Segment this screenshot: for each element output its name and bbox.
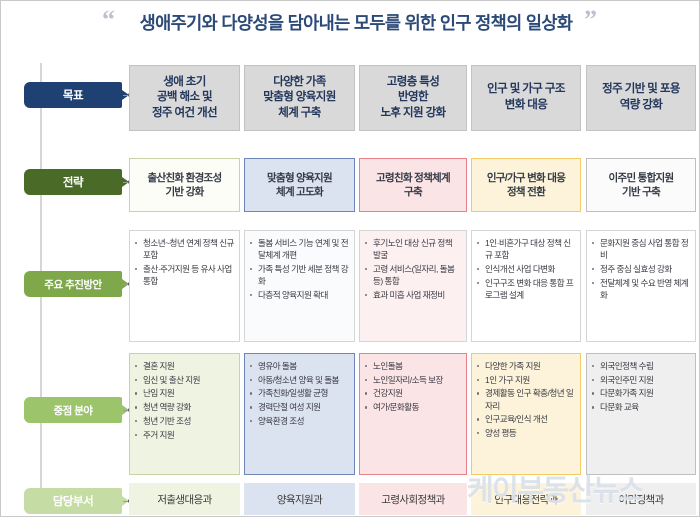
dept-box-1: 저출생대응과 [129,483,240,515]
list-item: 외국인주민 지원 [591,374,690,386]
strategy-box-2: 맞춤형 양육지원체계 고도화 [244,158,355,212]
list-item: 경력단절 여성 지원 [249,401,349,413]
list-item: 주거 지원 [134,429,234,441]
focus-box-5: 외국인정책 수립외국인주민 지원다문화가족 지원다문화 교육 [586,353,696,475]
list-item: 임신 및 출산 지원 [134,374,234,386]
plan-box-5: 문화지원 중심 사업 통합 정비정주 중심 실효성 강화전달체계 및 수요 반영… [586,230,696,342]
list-item: 경제활동 인구 확충/청년 일자리 [476,387,575,411]
list-item: 후기노인 대상 신규 정책 발굴 [364,237,461,261]
page-title: 생애주기와 다양성을 담아내는 모두를 위한 인구 정책의 일상화 [111,10,601,35]
list-item: 청소년~청년 연계 정책 신규 포함 [134,237,234,261]
plan-list-1: 청소년~청년 연계 정책 신규 포함출산·주거지원 등 유사 사업 통합 [134,237,234,287]
plan-list-2: 돌봄 서비스 기능 연계 및 전달체계 개편가족 특성 기반 세분 정책 강화다… [249,237,349,301]
list-item: 청년 기반 조성 [134,415,234,427]
list-item: 다양한 가족 지원 [476,360,575,372]
focus-list-2: 영유아 돌봄아동/청소년 양육 및 돌봄가족친화/일생활 균형경력단절 여성 지… [249,360,349,427]
title-band: “ 생애주기와 다양성을 담아내는 모두를 위한 인구 정책의 일상화 ” [1,1,700,47]
list-item: 여가/문화활동 [364,401,461,413]
list-item: 돌봄 서비스 기능 연계 및 전달체계 개편 [249,237,349,261]
list-item: 인구교육/인식 개선 [476,413,575,425]
list-item: 외국인정책 수립 [591,360,690,372]
list-item: 양육환경 조성 [249,415,349,427]
list-item: 1인 가구 지원 [476,374,575,386]
list-item: 아동/청소년 양육 및 돌봄 [249,374,349,386]
focus-box-4: 다양한 가족 지원1인 가구 지원경제활동 인구 확충/청년 일자리인구교육/인… [471,353,581,475]
list-item: 영유아 돌봄 [249,360,349,372]
row-label-focus: 중점 분야 [24,397,122,423]
list-item: 가족친화/일생활 균형 [249,387,349,399]
list-item: 양성 평등 [476,427,575,439]
plan-box-4: 1인·비혼가구 대상 정책 신규 포함인식개선 사업 다변화인구구조 변화 대응… [471,230,581,342]
strategy-box-3: 고령친화 정책체계구축 [359,158,467,212]
quote-close-icon: ” [584,7,597,33]
list-item: 출산·주거지원 등 유사 사업 통합 [134,263,234,287]
strategy-box-1: 출산친화 환경조성기반 강화 [129,158,240,212]
diagram-frame: “ 생애주기와 다양성을 담아내는 모두를 위한 인구 정책의 일상화 ” 목표… [0,0,700,517]
list-item: 다층적 양육지원 확대 [249,289,349,301]
goal-box-5: 정주 기반 및 포용역량 강화 [586,65,696,131]
row-label-plans: 주요 추진방안 [24,271,122,297]
list-item: 다문화가족 지원 [591,387,690,399]
focus-box-1: 결혼 지원임신 및 출산 지원난임 지원청년 역량 강화청년 기반 조성주거 지… [129,353,240,475]
list-item: 청년 역량 강화 [134,401,234,413]
plan-box-1: 청소년~청년 연계 정책 신규 포함출산·주거지원 등 유사 사업 통합 [129,230,240,342]
goal-box-2: 다양한 가족맞춤형 양육지원체계 구축 [244,65,355,131]
focus-list-5: 외국인정책 수립외국인주민 지원다문화가족 지원다문화 교육 [591,360,690,413]
focus-list-3: 노인돌봄노인일자리/소득 보장건강지원여가/문화활동 [364,360,461,413]
row-label-strategy: 전략 [24,169,122,195]
list-item: 효과 미흡 사업 재정비 [364,289,461,301]
list-item: 가족 특성 기반 세분 정책 강화 [249,263,349,287]
row-label-dept: 담당부서 [24,488,122,514]
focus-list-4: 다양한 가족 지원1인 가구 지원경제활동 인구 확충/청년 일자리인구교육/인… [476,360,575,439]
list-item: 결혼 지원 [134,360,234,372]
plan-list-4: 1인·비혼가구 대상 정책 신규 포함인식개선 사업 다변화인구구조 변화 대응… [476,237,575,301]
list-item: 건강지원 [364,387,461,399]
list-item: 인식개선 사업 다변화 [476,263,575,275]
focus-box-3: 노인돌봄노인일자리/소득 보장건강지원여가/문화활동 [359,353,467,475]
list-item: 인구구조 변화 대응 통합 프로그램 설계 [476,277,575,301]
list-item: 정주 중심 실효성 강화 [591,263,690,275]
strategy-box-5: 이주민 통합지원기반 구축 [586,158,696,212]
list-item: 1인·비혼가구 대상 정책 신규 포함 [476,237,575,261]
list-item: 전달체계 및 수요 반영 체계화 [591,277,690,301]
dept-box-2: 양육지원과 [244,483,355,515]
focus-list-1: 결혼 지원임신 및 출산 지원난임 지원청년 역량 강화청년 기반 조성주거 지… [134,360,234,441]
goal-box-4: 인구 및 가구 구조변화 대응 [471,65,581,131]
dept-box-4: 인구대응전략과 [471,483,581,515]
focus-box-2: 영유아 돌봄아동/청소년 양육 및 돌봄가족친화/일생활 균형경력단절 여성 지… [244,353,355,475]
strategy-box-4: 인구/가구 변화 대응정책 전환 [471,158,581,212]
list-item: 문화지원 중심 사업 통합 정비 [591,237,690,261]
list-item: 노인돌봄 [364,360,461,372]
dept-box-5: 이민정책과 [586,483,696,515]
plan-box-3: 후기노인 대상 신규 정책 발굴고령 서비스(일자리, 돌봄 등) 통합효과 미… [359,230,467,342]
row-label-goal: 목표 [24,82,122,108]
list-item: 다문화 교육 [591,401,690,413]
goal-box-1: 생애 초기공백 해소 및정주 여건 개선 [129,65,240,131]
dept-box-3: 고령사회정책과 [359,483,467,515]
plan-list-3: 후기노인 대상 신규 정책 발굴고령 서비스(일자리, 돌봄 등) 통합효과 미… [364,237,461,301]
list-item: 고령 서비스(일자리, 돌봄 등) 통합 [364,263,461,287]
plan-box-2: 돌봄 서비스 기능 연계 및 전달체계 개편가족 특성 기반 세분 정책 강화다… [244,230,355,342]
plan-list-5: 문화지원 중심 사업 통합 정비정주 중심 실효성 강화전달체계 및 수요 반영… [591,237,690,301]
list-item: 난임 지원 [134,387,234,399]
goal-box-3: 고령층 특성반영한노후 지원 강화 [359,65,467,131]
list-item: 노인일자리/소득 보장 [364,374,461,386]
